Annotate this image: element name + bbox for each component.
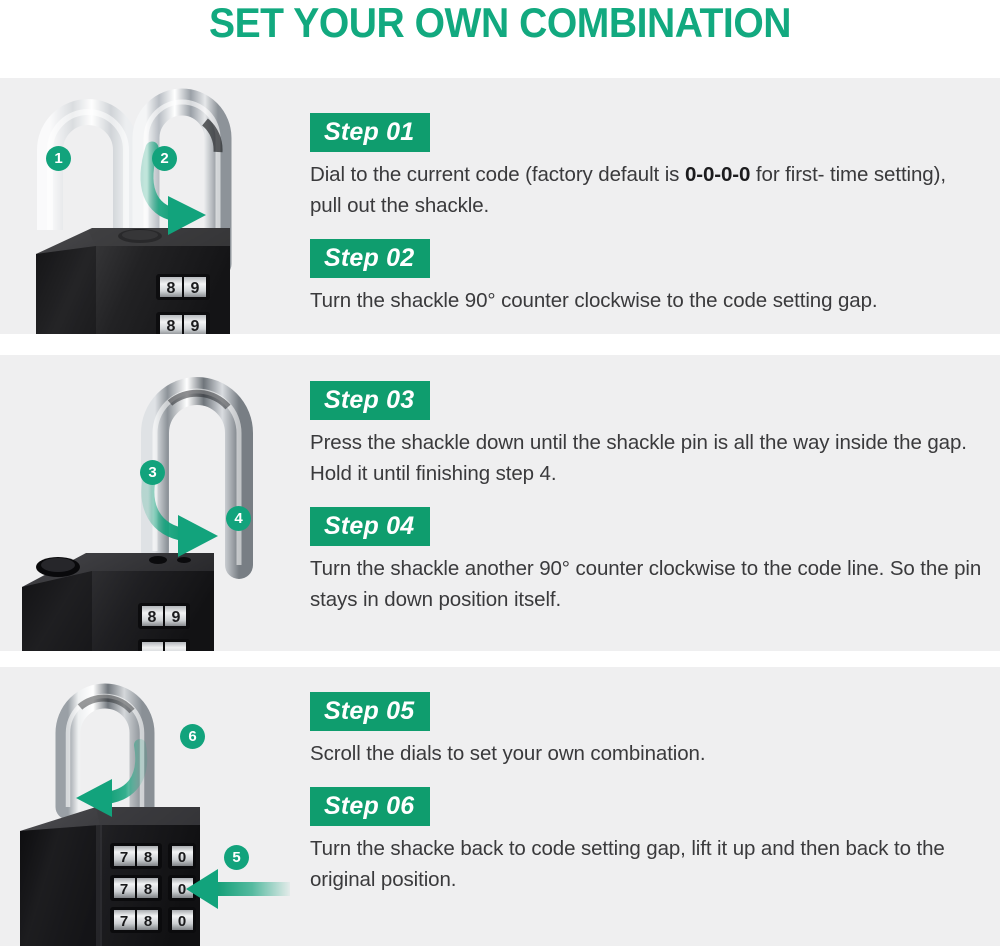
dial-window-group-2: 8 9	[138, 603, 190, 651]
step-text-06: Turn the shacke back to code setting gap…	[310, 833, 982, 895]
svg-text:9: 9	[172, 609, 181, 626]
step-marker-3: 3	[140, 460, 165, 485]
step-marker-6: 6	[180, 724, 205, 749]
padlock-illustration-1: 8 9 8 9	[0, 78, 310, 334]
padlock-illustration-3: 7 8 0 7 8 0 7 8 0	[0, 667, 310, 946]
step-badge-03: Step 03	[310, 381, 430, 420]
svg-text:7: 7	[120, 913, 128, 930]
svg-text:0: 0	[178, 849, 186, 866]
step-panel-2: 8 9 Step 03 Press the shackle down until…	[0, 355, 1000, 651]
step-panel-1: 8 9 8 9 Step 01 Dial to the current code…	[0, 78, 1000, 334]
svg-text:8: 8	[144, 849, 152, 866]
step-badge-04: Step 04	[310, 507, 430, 546]
svg-text:0: 0	[178, 913, 186, 930]
svg-text:7: 7	[120, 881, 128, 898]
dial-arrow-icon	[186, 869, 290, 909]
step-text-03: Press the shackle down until the shackle…	[310, 427, 982, 489]
padlock-illustration-2: 8 9	[0, 355, 310, 651]
svg-text:8: 8	[167, 318, 176, 334]
step-badge-01: Step 01	[310, 113, 430, 152]
page-title: SET YOUR OWN COMBINATION	[35, 2, 965, 44]
step-badge-06: Step 06	[310, 787, 430, 826]
instruction-graphic: SET YOUR OWN COMBINATION	[0, 0, 1000, 946]
step-text-04: Turn the shackle another 90° counter clo…	[310, 553, 982, 615]
step-marker-1: 1	[46, 146, 71, 171]
svg-text:9: 9	[191, 318, 200, 334]
step-text-05: Scroll the dials to set your own combina…	[310, 738, 982, 769]
svg-text:8: 8	[144, 913, 152, 930]
svg-text:8: 8	[167, 280, 176, 297]
step-marker-5: 5	[224, 845, 249, 870]
step-panel-3: 7 8 0 7 8 0 7 8 0	[0, 667, 1000, 946]
step-marker-4: 4	[226, 506, 251, 531]
step-badge-02: Step 02	[310, 239, 430, 278]
dial-window-group-3: 7 8 0 7 8 0 7 8 0	[110, 843, 196, 933]
step-badge-05: Step 05	[310, 692, 430, 731]
svg-text:0: 0	[178, 881, 186, 898]
svg-text:8: 8	[144, 881, 152, 898]
svg-text:9: 9	[191, 280, 200, 297]
step-marker-2: 2	[152, 146, 177, 171]
step-text-02: Turn the shackle 90° counter clockwise t…	[310, 285, 982, 316]
step-text-01: Dial to the current code (factory defaul…	[310, 159, 982, 221]
svg-text:8: 8	[148, 609, 157, 626]
svg-text:7: 7	[120, 849, 128, 866]
